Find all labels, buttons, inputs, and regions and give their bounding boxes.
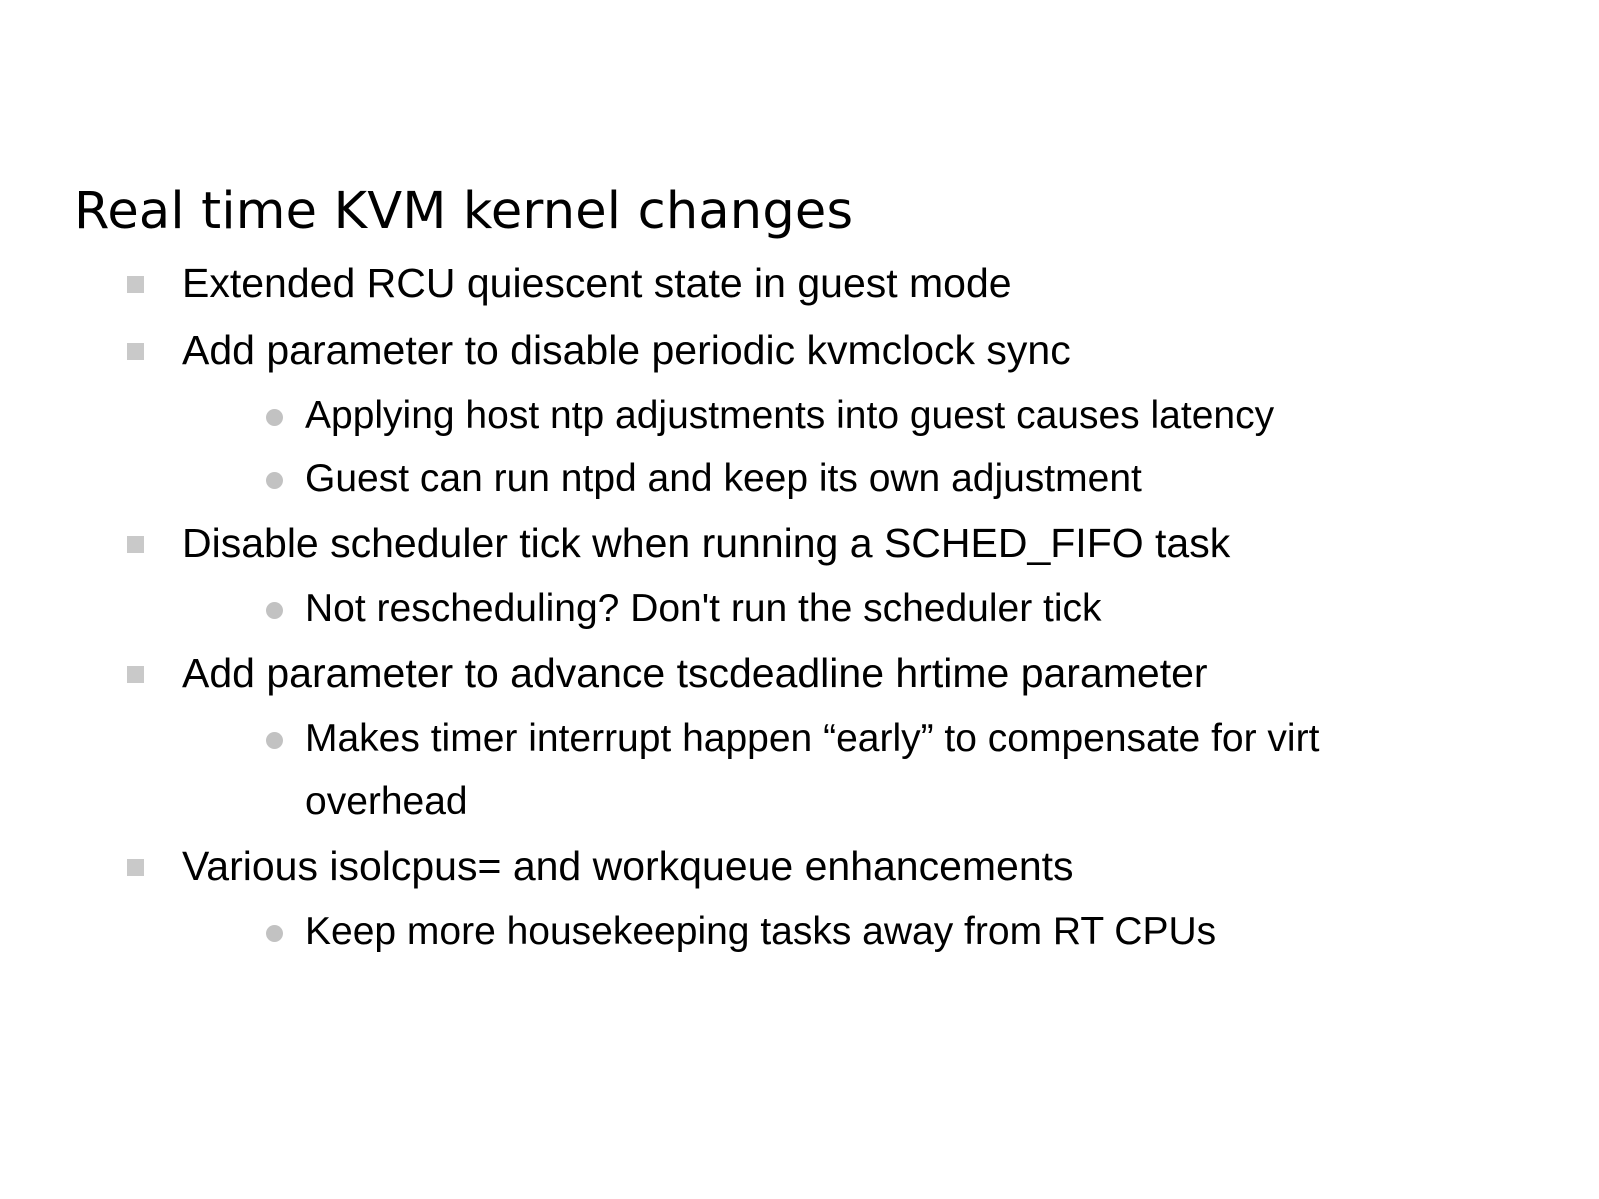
slide-content-list: Extended RCU quiescent state in guest mo…: [0, 250, 1599, 963]
list-item: Add parameter to advance tscdeadline hrt…: [0, 640, 1599, 707]
list-item-label: Makes timer interrupt happen “early” to …: [305, 707, 1434, 833]
circle-bullet-icon: [266, 602, 283, 619]
list-item-label: Extended RCU quiescent state in guest mo…: [182, 250, 1479, 317]
list-item: Add parameter to disable periodic kvmclo…: [0, 317, 1599, 384]
circle-bullet-icon: [266, 409, 283, 426]
list-item-label: Add parameter to disable periodic kvmclo…: [182, 317, 1479, 384]
circle-bullet-icon: [266, 925, 283, 942]
list-item: Guest can run ntpd and keep its own adju…: [0, 447, 1599, 510]
list-item-label: Keep more housekeeping tasks away from R…: [305, 900, 1434, 963]
square-bullet-icon: [127, 536, 144, 553]
square-bullet-icon: [127, 666, 144, 683]
square-bullet-icon: [127, 343, 144, 360]
list-item-label: Disable scheduler tick when running a SC…: [182, 510, 1479, 577]
square-bullet-icon: [127, 859, 144, 876]
list-item: Extended RCU quiescent state in guest mo…: [0, 250, 1599, 317]
list-item: Makes timer interrupt happen “early” to …: [0, 707, 1599, 833]
list-item: Keep more housekeeping tasks away from R…: [0, 900, 1599, 963]
list-item-label: Various isolcpus= and workqueue enhancem…: [182, 833, 1479, 900]
list-item-label: Guest can run ntpd and keep its own adju…: [305, 447, 1434, 510]
list-item: Applying host ntp adjustments into guest…: [0, 384, 1599, 447]
list-item: Not rescheduling? Don't run the schedule…: [0, 577, 1599, 640]
list-item-label: Add parameter to advance tscdeadline hrt…: [182, 640, 1479, 707]
circle-bullet-icon: [266, 732, 283, 749]
list-item: Various isolcpus= and workqueue enhancem…: [0, 833, 1599, 900]
list-item-label: Applying host ntp adjustments into guest…: [305, 384, 1434, 447]
page-title: Real time KVM kernel changes: [74, 182, 1524, 242]
presentation-slide: Real time KVM kernel changes Extended RC…: [0, 0, 1599, 1199]
circle-bullet-icon: [266, 472, 283, 489]
list-item: Disable scheduler tick when running a SC…: [0, 510, 1599, 577]
square-bullet-icon: [127, 276, 144, 293]
list-item-label: Not rescheduling? Don't run the schedule…: [305, 577, 1434, 640]
